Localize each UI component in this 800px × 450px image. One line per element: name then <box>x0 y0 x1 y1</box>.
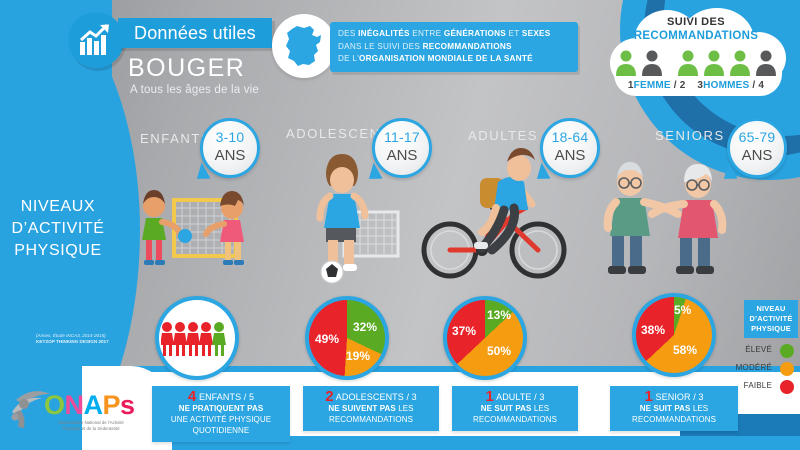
header-tab-label: Données utiles <box>118 18 272 48</box>
caption-adultes-bold: NE SUIT PAS <box>481 404 532 413</box>
onaps-tagline: Observatoire National de l'Activité Phys… <box>46 420 136 431</box>
adult-cycling-icon <box>420 142 570 287</box>
caption-enfants-subject: ENFANTS / 5 <box>199 392 254 402</box>
legend-title: NIVEAU D’ACTIVITÉ PHYSIQUE <box>744 300 798 338</box>
legend-swatch-modere <box>780 362 794 376</box>
pie-slices-adultes <box>447 300 523 376</box>
caption-adolescents-line3: RECOMMANDATIONS <box>307 414 435 425</box>
pie-chart-adultes: 13% 50% 37% <box>443 296 527 380</box>
source-credit: (Anses, Étude INCA3, 2014-2015) KEYZOP T… <box>36 333 142 345</box>
legend-item-modere: MODÉRÉ <box>726 361 796 377</box>
age-unit-enfants: ANS <box>203 147 257 164</box>
legend-title-line3: PHYSIQUE <box>744 324 798 334</box>
legend-label-eleve: ÉLEVÉ <box>745 345 772 354</box>
pie-value-adultes-eleve: 13% <box>487 308 511 322</box>
banner-line-2: DANS LE SUIVI DES RECOMMANDATIONS <box>330 41 578 54</box>
men-total: / 4 <box>752 80 764 91</box>
caption-seniors-line1: 1 SENIOR / 3 <box>614 391 734 403</box>
caption-adolescents: 2 ADOLESCENTS / 3 NE SUIVENT PAS LES REC… <box>303 386 439 431</box>
onaps-letter-s: s <box>120 390 135 420</box>
pie-value-adultes-modere: 50% <box>487 344 511 358</box>
legend-item-faible: FAIBLE <box>726 379 796 395</box>
age-range-enfants: 3-10 <box>203 129 257 145</box>
onaps-tagline-line1: Observatoire National de l'Activité <box>46 420 136 426</box>
banner-line-1: DES INÉGALITÉS ENTRE GÉNÉRATIONS ET SEXE… <box>330 22 578 41</box>
header-banner: DES INÉGALITÉS ENTRE GÉNÉRATIONS ET SEXE… <box>330 22 578 72</box>
caption-seniors-line3: RECOMMANDATIONS <box>614 414 734 425</box>
legend-label-faible: FAIBLE <box>744 381 772 390</box>
france-map-icon <box>272 14 336 78</box>
caption-enfants-line1: 4 ENFANTS / 5 <box>156 391 286 403</box>
source-line-2: KEYZOP THINKING DESIGN 2017 <box>36 339 109 344</box>
caption-adultes-line1: 1 ADULTE / 3 <box>456 391 574 403</box>
caption-adultes-subject: ADULTE / 3 <box>496 392 544 402</box>
onaps-letter-o: O <box>44 390 65 420</box>
seniors-walking-icon <box>586 148 746 287</box>
caption-seniors-bold: NE SUIT PAS <box>640 404 691 413</box>
legend-item-eleve: ÉLEVÉ <box>726 343 796 359</box>
caption-enfants: 4 ENFANTS / 5 NE PRATIQUENT PAS UNE ACTI… <box>152 386 290 442</box>
caption-adultes-rest: LES <box>532 404 550 413</box>
caption-adolescents-line1: 2 ADOLESCENTS / 3 <box>307 391 435 403</box>
legend-swatch-eleve <box>780 344 794 358</box>
pie-value-adolescents-eleve: 32% <box>353 320 377 334</box>
page-title: BOUGER <box>128 54 245 83</box>
caption-adultes-line2: NE SUIT PAS LES <box>456 403 574 414</box>
bar-chart-up-icon <box>68 12 124 68</box>
age-label-adultes: ADULTES <box>468 128 538 143</box>
onaps-letter-a: A <box>84 390 103 420</box>
caption-enfants-line4: QUOTIDIENNE <box>156 425 286 436</box>
legend-title-line2: D’ACTIVITÉ <box>744 314 798 324</box>
caption-seniors-rest: LES <box>691 404 709 413</box>
page-subtitle: A tous les âges de la vie <box>130 84 259 96</box>
cloud-title-line2: RECOMMANDATIONS <box>612 30 780 42</box>
caption-adolescents-bold: NE SUIVENT PAS <box>328 404 396 413</box>
pie-value-seniors-eleve: 5% <box>674 303 691 317</box>
teen-football-icon <box>300 150 420 291</box>
banner-line-3: DE L'ORGANISATION MONDIALE DE LA SANTÉ <box>330 53 578 66</box>
caption-enfants-line2: NE PRATIQUENT PAS <box>156 403 286 414</box>
caption-seniors: 1 SENIOR / 3 NE SUIT PAS LES RECOMMANDAT… <box>610 386 738 431</box>
left-title-line3: PHYSIQUE <box>4 240 112 262</box>
age-label-seniors: SENIORS <box>655 128 725 143</box>
left-title-line2: D’ACTIVITÉ <box>4 218 112 240</box>
pie-value-adolescents-faible: 49% <box>315 332 339 346</box>
women-total: / 2 <box>674 80 686 91</box>
caption-enfants-line3: UNE ACTIVITÉ PHYSIQUE <box>156 414 286 425</box>
onaps-tagline-line2: Physique et de la Sédentarité <box>46 426 136 432</box>
legend-title-line1: NIVEAU <box>744 304 798 314</box>
cloud-people-icons <box>612 48 780 76</box>
men-label: HOMMES <box>703 80 749 91</box>
caption-enfants-bold: NE PRATIQUENT PAS <box>179 404 264 413</box>
cloud-title-line1: SUIVI DES <box>616 16 776 28</box>
legend-swatch-faible <box>780 380 794 394</box>
children-pictogram-chart <box>155 296 239 380</box>
caption-seniors-subject: SENIOR / 3 <box>656 392 704 402</box>
legend-label-modere: MODÉRÉ <box>736 363 772 372</box>
pie-value-adolescents-modere: 19% <box>346 349 370 363</box>
onaps-wordmark: ONAPs <box>44 390 135 421</box>
left-title-line1: NIVEAUX <box>4 196 112 218</box>
age-range-seniors: 65-79 <box>730 129 784 145</box>
pie-value-seniors-faible: 38% <box>641 323 665 337</box>
left-panel-title: NIVEAUX D’ACTIVITÉ PHYSIQUE <box>4 196 112 262</box>
women-label: FEMME <box>634 80 671 91</box>
caption-adultes-line3: RECOMMANDATIONS <box>456 414 574 425</box>
age-bubble-enfants: 3-10 ANS <box>200 118 260 178</box>
cloud-ratio-labels: 1FEMME / 2 3HOMMES / 4 <box>600 80 792 91</box>
onaps-letter-n: N <box>65 390 84 420</box>
pie-chart-adolescents: 32% 19% 49% <box>305 296 389 380</box>
onaps-logo: ONAPs Observatoire National de l'Activit… <box>8 382 132 440</box>
caption-seniors-line2: NE SUIT PAS LES <box>614 403 734 414</box>
caption-adolescents-rest: LES <box>396 404 414 413</box>
children-playing-icon <box>132 172 262 287</box>
caption-adolescents-subject: ADOLESCENTS / 3 <box>336 392 417 402</box>
pie-value-seniors-modere: 58% <box>673 343 697 357</box>
pie-chart-seniors: 5% 58% 38% <box>632 293 716 377</box>
caption-adultes: 1 ADULTE / 3 NE SUIT PAS LES RECOMMANDAT… <box>452 386 578 431</box>
pie-value-adultes-faible: 37% <box>452 324 476 338</box>
onaps-letter-p: P <box>103 390 121 420</box>
infographic-canvas: Données utiles BOUGER A tous les âges de… <box>0 0 800 450</box>
